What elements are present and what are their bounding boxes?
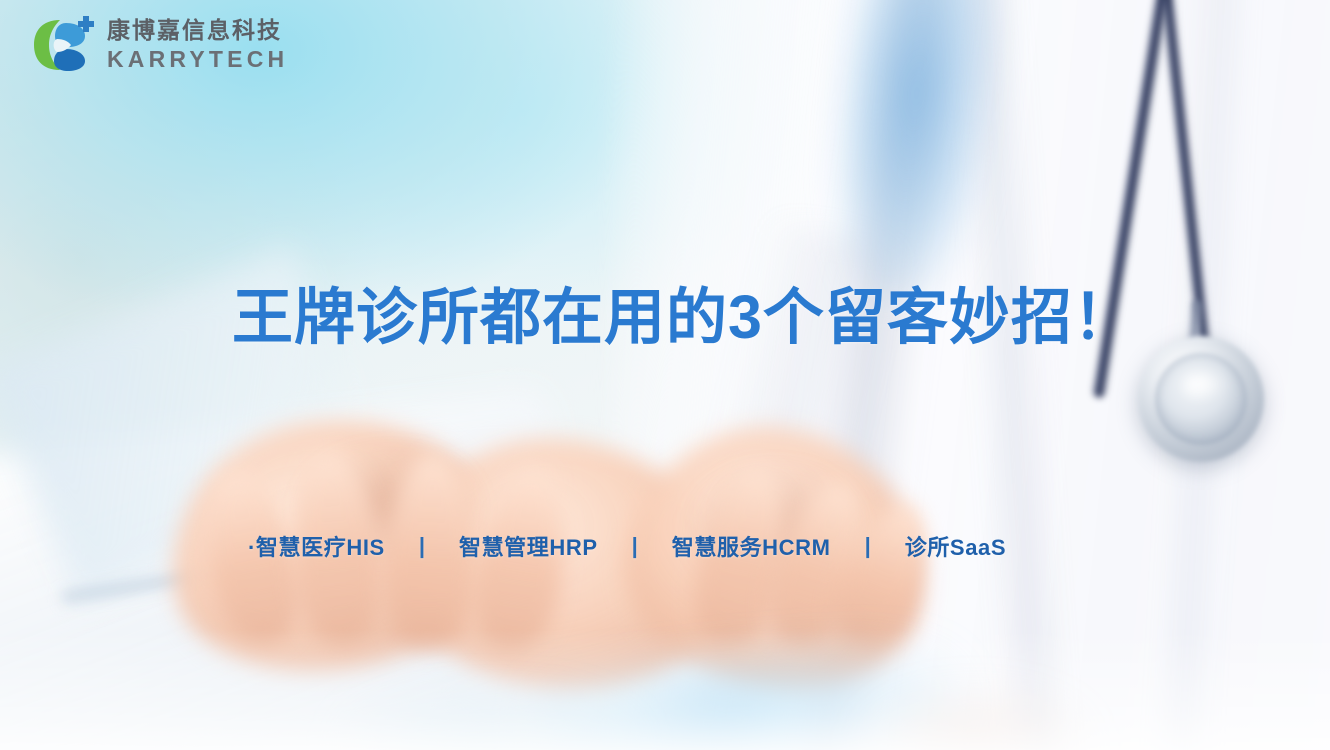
marketing-slide: 康博嘉信息科技 KARRYTECH 王牌诊所都在用的3个留客妙招！ ·智慧医疗H… — [0, 0, 1330, 750]
bottom-fade — [0, 630, 1330, 750]
company-name-cn: 康博嘉信息科技 — [107, 17, 288, 44]
nav-item-hcrm[interactable]: 智慧服务HCRM — [672, 530, 831, 562]
nav-separator: | — [598, 533, 672, 559]
nav-item-saas[interactable]: 诊所SaaS — [905, 530, 1006, 562]
nav-separator: | — [385, 533, 459, 559]
nav-item-hrp[interactable]: 智慧管理HRP — [459, 530, 598, 562]
nav-item-his[interactable]: ·智慧医疗HIS — [248, 530, 385, 562]
company-name-en: KARRYTECH — [107, 46, 288, 73]
brand-logo[interactable]: 康博嘉信息科技 KARRYTECH — [30, 14, 288, 76]
nav-separator: | — [831, 533, 905, 559]
karrytech-logo-mark — [30, 14, 94, 76]
page-title: 王牌诊所都在用的3个留客妙招！ — [232, 283, 1135, 351]
stethoscope-highlight — [1182, 372, 1226, 402]
brand-logo-text: 康博嘉信息科技 KARRYTECH — [107, 17, 288, 72]
background-photo — [0, 0, 1330, 750]
product-nav: ·智慧医疗HIS | 智慧管理HRP | 智慧服务HCRM | 诊所SaaS — [248, 530, 1006, 562]
